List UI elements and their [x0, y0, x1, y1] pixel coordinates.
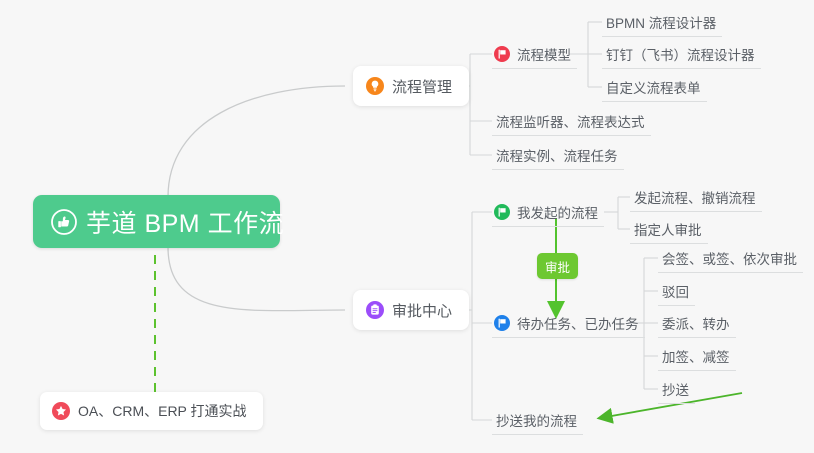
node-my-initiated-flows[interactable]: 我发起的流程 [492, 197, 604, 227]
root-label: 芋道 BPM 工作流 [86, 204, 284, 240]
annotation-label: 审批 [545, 257, 570, 276]
node-reject[interactable]: 驳回 [658, 276, 695, 306]
node-bpmn-designer[interactable]: BPMN 流程设计器 [602, 7, 722, 37]
node-todo-done-tasks[interactable]: 待办任务、已办任务 [492, 308, 645, 338]
lightbulb-icon [366, 77, 384, 95]
node-delegate-transfer[interactable]: 委派、转办 [658, 308, 736, 338]
branch-label: 流程管理 [392, 76, 452, 97]
node-cc-to-me-flows[interactable]: 抄送我的流程 [492, 405, 583, 435]
node-process-listener-expression[interactable]: 流程监听器、流程表达式 [492, 106, 651, 136]
node-label: 抄送 [662, 379, 689, 399]
branch-label: 审批中心 [392, 300, 452, 321]
node-label: 流程监听器、流程表达式 [496, 111, 645, 131]
node-start-cancel-flow[interactable]: 发起流程、撤销流程 [630, 182, 762, 212]
note-label: OA、CRM、ERP 打通实战 [78, 401, 247, 421]
mindmap-canvas: 芋道 BPM 工作流 OA、CRM、ERP 打通实战 流程管理 [0, 0, 814, 453]
node-label: 流程实例、流程任务 [496, 145, 618, 165]
node-label: 自定义流程表单 [606, 77, 701, 97]
annotation-badge-approval: 审批 [537, 253, 578, 279]
node-label: 我发起的流程 [517, 202, 598, 222]
node-label: 抄送我的流程 [496, 410, 577, 430]
node-assigned-approval[interactable]: 指定人审批 [630, 214, 708, 244]
node-countersign[interactable]: 会签、或签、依次审批 [658, 243, 803, 273]
node-process-model[interactable]: 流程模型 [492, 39, 577, 69]
curve-root-to-process-management [168, 86, 345, 197]
flag-icon [494, 204, 510, 220]
node-label: 指定人审批 [634, 219, 702, 239]
node-label: 加签、减签 [662, 346, 730, 366]
star-icon [52, 402, 70, 420]
flag-icon [494, 46, 510, 62]
node-cc[interactable]: 抄送 [658, 374, 695, 404]
thumbs-up-icon [51, 209, 77, 235]
node-label: 委派、转办 [662, 313, 730, 333]
node-label: 驳回 [662, 281, 689, 301]
node-add-remove-sign[interactable]: 加签、减签 [658, 341, 736, 371]
note-node[interactable]: OA、CRM、ERP 打通实战 [40, 392, 263, 430]
root-node[interactable]: 芋道 BPM 工作流 [33, 195, 280, 248]
node-label: BPMN 流程设计器 [606, 12, 716, 32]
branch-node-process-management[interactable]: 流程管理 [353, 66, 469, 106]
node-custom-form[interactable]: 自定义流程表单 [602, 72, 707, 102]
clipboard-icon [366, 301, 384, 319]
node-dingtalk-designer[interactable]: 钉钉（飞书）流程设计器 [602, 39, 761, 69]
node-process-instance-task[interactable]: 流程实例、流程任务 [492, 140, 624, 170]
flag-icon [494, 315, 510, 331]
node-label: 发起流程、撤销流程 [634, 187, 756, 207]
node-label: 会签、或签、依次审批 [662, 248, 797, 268]
node-label: 待办任务、已办任务 [517, 313, 639, 333]
branch-node-approval-center[interactable]: 审批中心 [353, 290, 469, 330]
node-label: 流程模型 [517, 44, 571, 64]
node-label: 钉钉（飞书）流程设计器 [606, 44, 755, 64]
curve-root-to-approval-center [168, 247, 345, 311]
